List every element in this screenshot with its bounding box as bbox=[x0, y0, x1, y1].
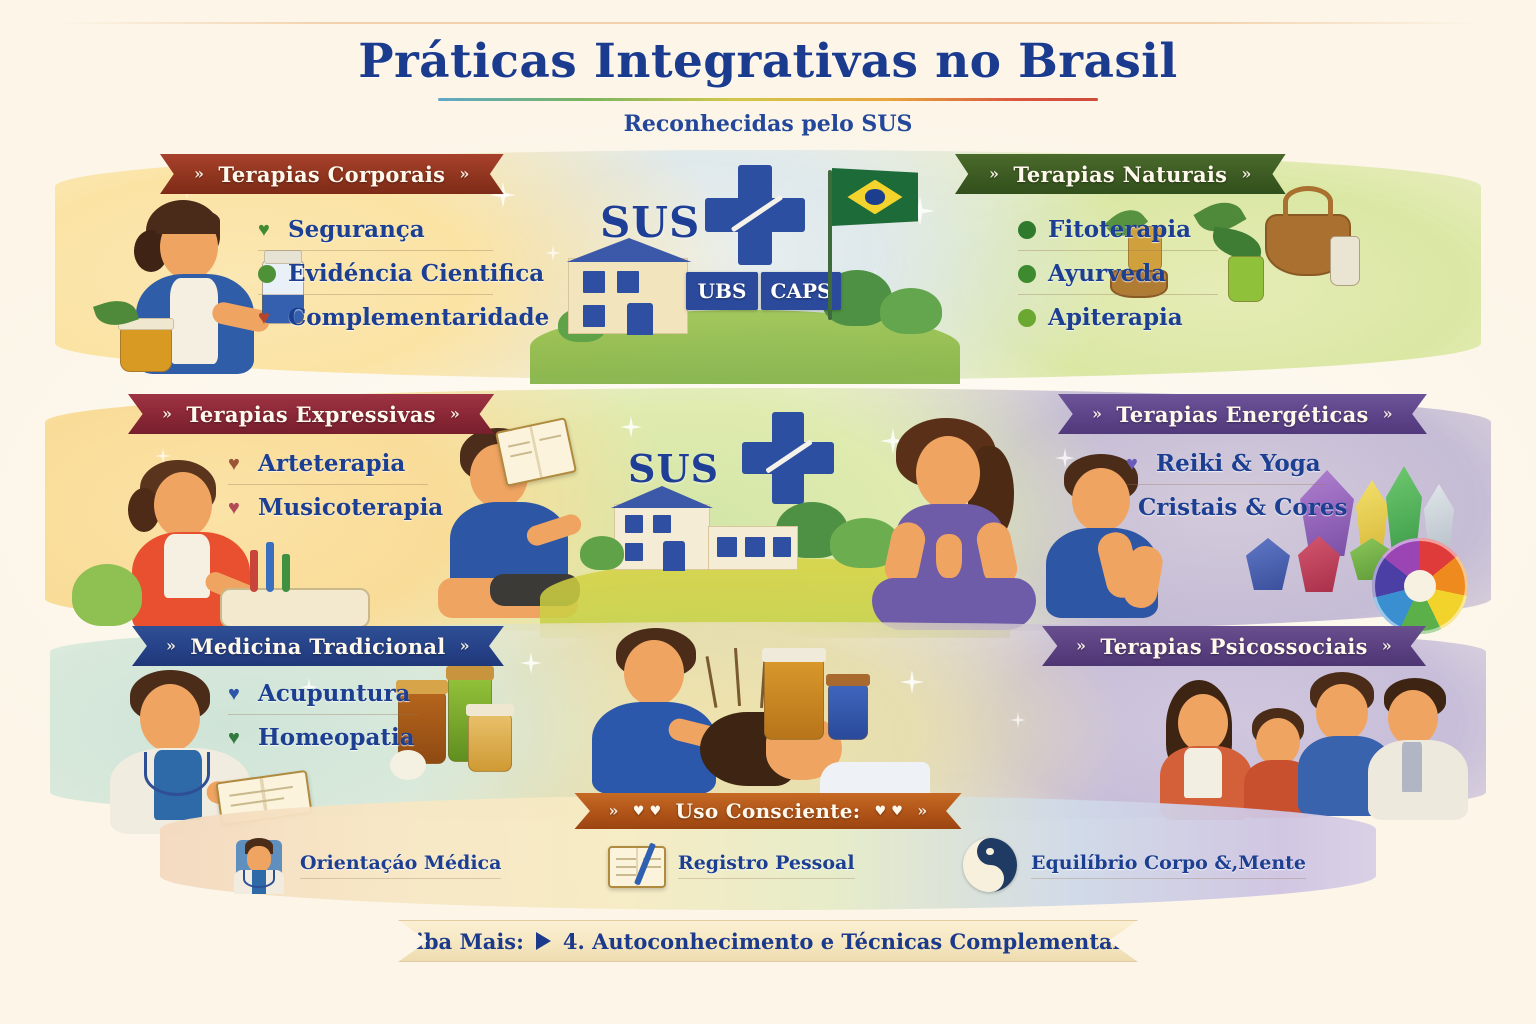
flag-pole bbox=[828, 170, 832, 320]
saiba-mais-link: 4. Autoconhecimento e Técnicas Complemen… bbox=[563, 929, 1149, 954]
heart-bullet-icon bbox=[1126, 455, 1144, 473]
ribbon-label: Terapias Psicossociais bbox=[1100, 634, 1367, 659]
dot-bullet-icon bbox=[1018, 265, 1036, 283]
ribbon-medicina-tradicional: Medicina Tradicional bbox=[132, 626, 504, 666]
conscious-item-label: Equilíbrio Corpo &,Mente bbox=[1031, 852, 1306, 879]
saiba-mais-banner[interactable]: Saiba Mais: 4. Autoconhecimento e Técnic… bbox=[398, 920, 1138, 962]
jar-lid bbox=[762, 648, 826, 662]
doctor-icon bbox=[230, 836, 288, 894]
uso-consciente-items: Orientaçáo Médica Registro Pessoal bbox=[230, 836, 1306, 894]
honey-jar-icon bbox=[120, 326, 172, 372]
conscious-item-label: Registro Pessoal bbox=[678, 852, 855, 879]
stethoscope-icon bbox=[144, 752, 210, 796]
jar-lid bbox=[466, 704, 514, 716]
sus-cross-icon bbox=[705, 165, 805, 265]
color-wheel-icon bbox=[1372, 538, 1468, 634]
list-item-label: Acupuntura bbox=[258, 680, 410, 707]
conscious-item-label: Orientaçáo Médica bbox=[300, 852, 501, 879]
list-item[interactable]: Acupuntura bbox=[228, 676, 418, 714]
yin-yang-icon bbox=[961, 836, 1019, 894]
list-terapias-corporais: Segurança Evidéncia Cientifica Complemen… bbox=[258, 212, 493, 338]
conscious-item-registro-pessoal[interactable]: Registro Pessoal bbox=[608, 836, 855, 894]
ribbon-label: Uso Consciente: bbox=[676, 799, 861, 823]
list-terapias-naturais: Fitoterapia Ayurveda Apiterapia bbox=[1018, 212, 1218, 338]
band-row-3: Medicina Tradicional Terapias Psicossoci… bbox=[0, 622, 1536, 822]
heart-bullet-icon bbox=[228, 499, 246, 517]
list-item-label: Cristais & Cores bbox=[1138, 494, 1347, 521]
list-item-label: Complementaridade bbox=[288, 304, 549, 331]
heart-bullet-icon bbox=[258, 221, 276, 239]
list-item[interactable]: Reiki & Yoga bbox=[1126, 446, 1326, 484]
heart-bullet-icon bbox=[228, 685, 246, 703]
top-hairline bbox=[55, 22, 1481, 24]
ribbon-label: Terapias Naturais bbox=[1013, 162, 1227, 187]
list-item[interactable]: Ayurveda bbox=[1018, 250, 1218, 294]
ribbon-label: Terapias Corporais bbox=[218, 162, 445, 187]
bush bbox=[880, 288, 942, 334]
brazil-flag-icon bbox=[832, 168, 918, 226]
header: Práticas Integrativas no Brasil Reconhec… bbox=[0, 34, 1536, 137]
sus-scene-top: SUS UBS CAPS bbox=[540, 160, 940, 380]
sign-ubs: UBS bbox=[686, 272, 758, 310]
ribbon-uso-consciente: ♥ ♥ Uso Consciente: ♥ ♥ bbox=[574, 793, 961, 829]
paintbrush-icon bbox=[250, 550, 258, 592]
list-item[interactable]: Cristais & Cores bbox=[1126, 484, 1326, 528]
ribbon-hearts-right: ♥ ♥ bbox=[874, 804, 903, 819]
infographic-canvas: Práticas Integrativas no Brasil Reconhec… bbox=[0, 0, 1536, 1024]
page-title: Práticas Integrativas no Brasil bbox=[0, 34, 1536, 89]
annex-building bbox=[708, 526, 798, 570]
medicine-jar-icon bbox=[828, 684, 868, 740]
sus-cross-icon bbox=[742, 412, 834, 504]
list-item[interactable]: Homeopatia bbox=[228, 714, 418, 758]
saiba-mais-prefix: Saiba Mais: bbox=[387, 929, 524, 954]
ribbon-terapias-naturais: Terapias Naturais bbox=[955, 154, 1286, 194]
ribbon-label: Terapias Expressivas bbox=[186, 402, 436, 427]
herb-jar-icon bbox=[764, 658, 824, 740]
bush bbox=[580, 536, 624, 570]
illustration-meditating-woman bbox=[862, 418, 1052, 633]
list-item-label: Ayurveda bbox=[1048, 260, 1166, 287]
play-arrow-icon bbox=[536, 932, 551, 950]
list-item-label: Segurança bbox=[288, 216, 425, 243]
ribbon-terapias-psicossociais: Terapias Psicossociais bbox=[1042, 626, 1426, 666]
list-item[interactable]: Fitoterapia bbox=[1018, 212, 1218, 250]
list-item-label: Arteterapia bbox=[258, 450, 405, 477]
book-pen-icon bbox=[608, 836, 666, 894]
list-item[interactable]: Apiterapia bbox=[1018, 294, 1218, 338]
conscious-item-orientacao-medica[interactable]: Orientaçáo Médica bbox=[230, 836, 501, 894]
jar-lid bbox=[446, 666, 494, 680]
list-item-label: Fitoterapia bbox=[1048, 216, 1191, 243]
list-item[interactable]: Segurança bbox=[258, 212, 493, 250]
heart-bullet-icon bbox=[228, 455, 246, 473]
ubs-building bbox=[614, 504, 710, 570]
band-row-2: SUS bbox=[0, 388, 1536, 633]
page-subtitle: Reconhecidas pelo SUS bbox=[0, 111, 1536, 137]
jar-lid bbox=[826, 674, 870, 686]
list-item-label: Reiki & Yoga bbox=[1156, 450, 1321, 477]
sus-wordmark: SUS bbox=[600, 198, 700, 247]
paintbrush-icon bbox=[266, 542, 274, 592]
plant bbox=[72, 564, 142, 626]
paintbrush-icon bbox=[282, 554, 290, 592]
ribbon-label: Terapias Energéticas bbox=[1116, 402, 1368, 427]
list-item[interactable]: Musicoterapia bbox=[228, 484, 428, 528]
jar-icon bbox=[1330, 236, 1360, 286]
dot-bullet-icon bbox=[1018, 221, 1036, 239]
ribbon-hearts-left: ♥ ♥ bbox=[633, 804, 662, 819]
ribbon-terapias-energeticas: Terapias Energéticas bbox=[1058, 394, 1427, 434]
dot-bullet-icon bbox=[258, 265, 276, 283]
list-item-label: Musicoterapia bbox=[258, 494, 443, 521]
ribbon-label: Medicina Tradicional bbox=[190, 634, 445, 659]
heart-bullet-icon bbox=[258, 309, 276, 327]
basket-handle bbox=[1283, 186, 1333, 218]
oil-bottle-icon bbox=[1228, 256, 1264, 302]
sus-wordmark: SUS bbox=[628, 446, 719, 491]
title-rainbow-divider bbox=[438, 98, 1098, 101]
list-item-label: Homeopatia bbox=[258, 724, 415, 751]
list-item[interactable]: Evidéncia Cientifica bbox=[258, 250, 493, 294]
conscious-item-equilibrio[interactable]: Equilíbrio Corpo &,Mente bbox=[961, 836, 1306, 894]
ribbon-terapias-corporais: Terapias Corporais bbox=[160, 154, 504, 194]
list-item[interactable]: Arteterapia bbox=[228, 446, 428, 484]
list-terapias-energeticas: Reiki & Yoga Cristais & Cores bbox=[1126, 446, 1326, 528]
dot-bullet-icon bbox=[1018, 309, 1036, 327]
list-item[interactable]: Complementaridade bbox=[258, 294, 493, 338]
medicine-jar-icon bbox=[468, 714, 512, 772]
list-terapias-expressivas: Arteterapia Musicoterapia bbox=[228, 446, 428, 528]
list-medicina-tradicional: Acupuntura Homeopatia bbox=[228, 676, 418, 758]
ribbon-terapias-expressivas: Terapias Expressivas bbox=[128, 394, 494, 434]
list-item-label: Evidéncia Cientifica bbox=[288, 260, 544, 287]
heart-bullet-icon bbox=[228, 729, 246, 747]
ubs-building bbox=[568, 258, 688, 334]
band-row-1: SUS UBS CAPS bbox=[0, 150, 1536, 380]
list-item-label: Apiterapia bbox=[1048, 304, 1183, 331]
